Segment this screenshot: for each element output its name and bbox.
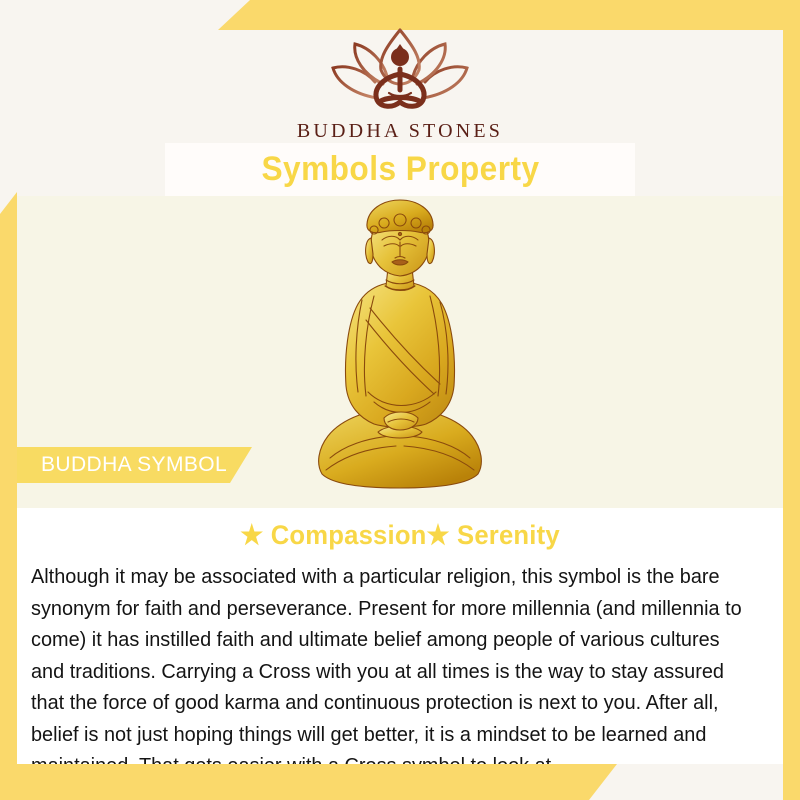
title-banner: Symbols Property <box>165 143 635 196</box>
page-title: Symbols Property <box>261 150 539 189</box>
decor-left-strip <box>0 192 17 800</box>
brand-name: BUDDHA STONES <box>297 120 503 143</box>
attributes-subtitle: ★ Compassion★ Serenity <box>36 520 764 551</box>
lotus-meditation-figure-icon <box>315 24 485 116</box>
golden-seated-buddha-statue <box>300 196 500 491</box>
infographic-poster: BUDDHA STONES Symbols Property <box>0 0 800 800</box>
buddha-symbol-tag: BUDDHA SYMBOL <box>17 447 252 483</box>
decor-bottom-left-band <box>0 764 617 800</box>
description-panel: ★ Compassion★ Serenity Although it may b… <box>17 508 783 764</box>
brand-header: BUDDHA STONES <box>0 24 800 143</box>
buddha-symbol-tag-label: BUDDHA SYMBOL <box>17 453 227 477</box>
description-paragraph: Although it may be associated with a par… <box>31 561 749 782</box>
